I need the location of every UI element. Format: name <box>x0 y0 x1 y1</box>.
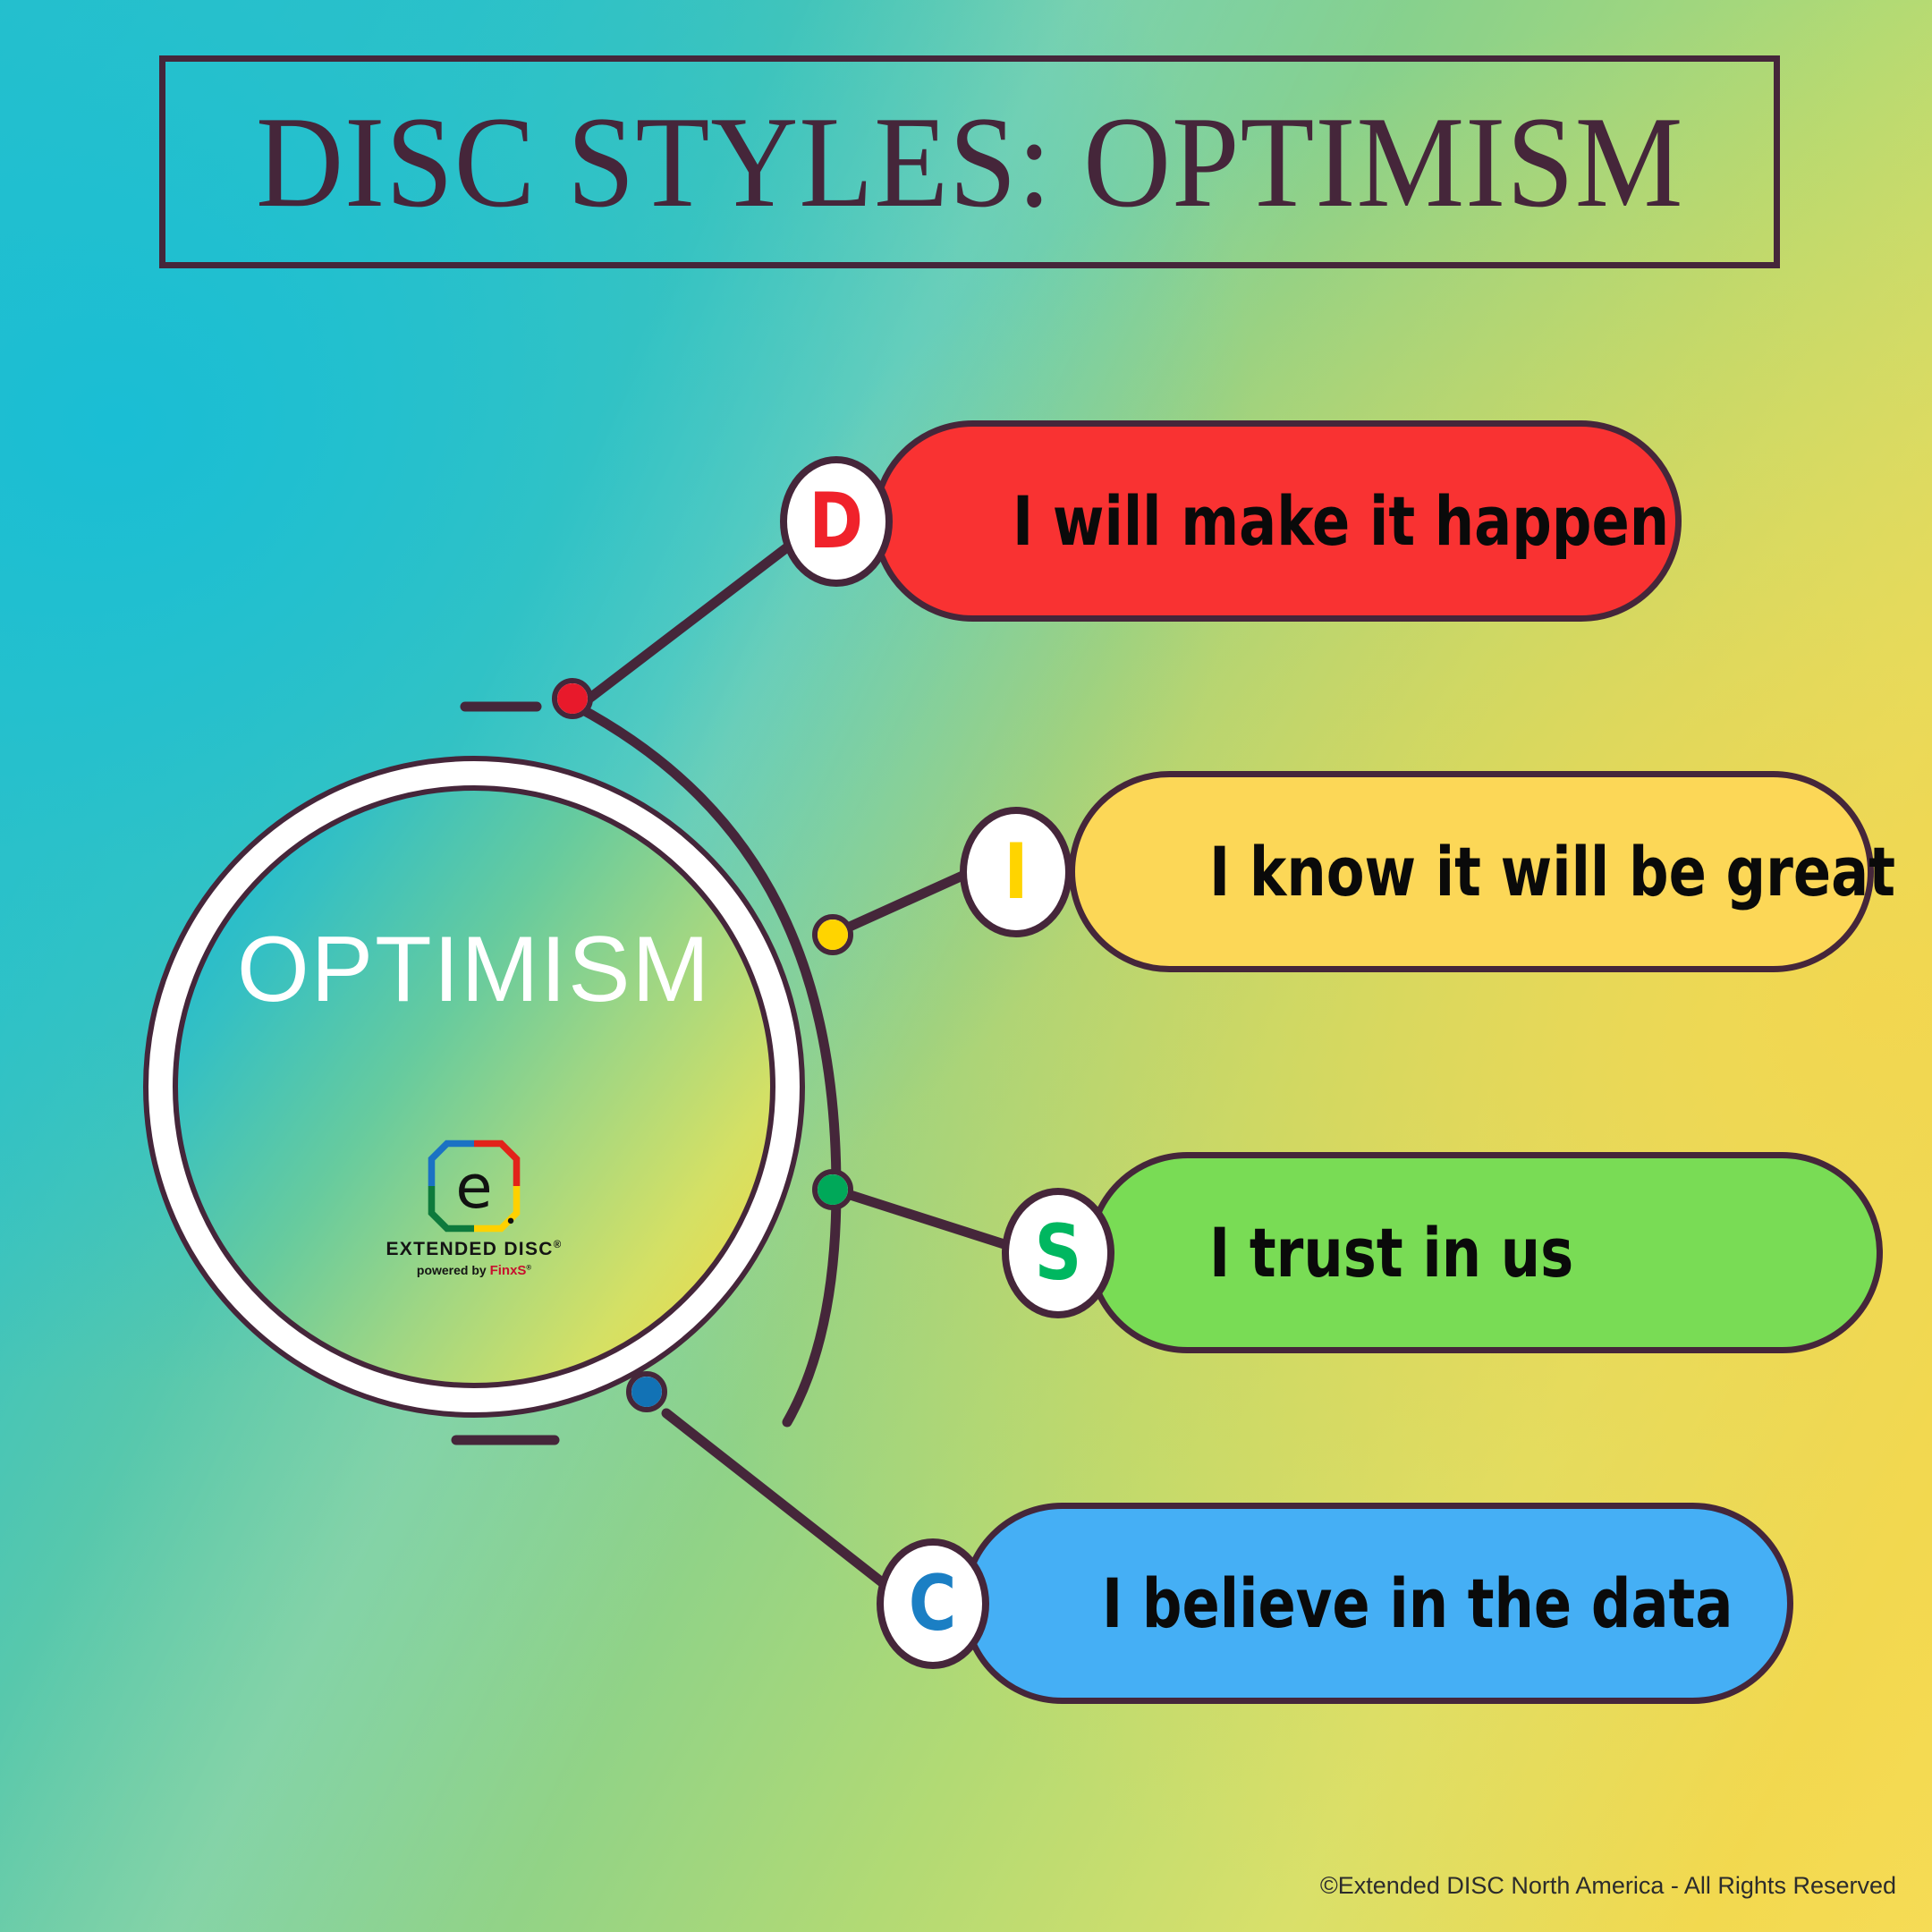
brand-name: EXTENDED DISC® <box>386 1239 562 1260</box>
svg-text:e: e <box>455 1152 492 1222</box>
statement-text-s: I trust in us <box>1209 1219 1573 1287</box>
statement-pill-c[interactable]: I believe in the data <box>962 1503 1793 1704</box>
finxs-wordmark: FinxS <box>490 1263 527 1278</box>
disc-letter-s: S <box>1035 1215 1082 1292</box>
brand-lockup: e EXTENDED DISC® powered by FinxS® <box>178 1138 770 1278</box>
statement-text-c: I believe in the data <box>1102 1570 1733 1638</box>
statement-pill-s[interactable]: I trust in us <box>1087 1152 1883 1353</box>
disc-letter-d: D <box>809 483 864 560</box>
disc-badge-i[interactable]: I <box>960 807 1072 937</box>
copyright-footer: ©Extended DISC North America - All Right… <box>1320 1872 1896 1900</box>
junction-dot-d <box>552 678 593 719</box>
disc-badge-s[interactable]: S <box>1002 1188 1114 1318</box>
disc-badge-d[interactable]: D <box>780 456 893 587</box>
statement-text-i: I know it will be great <box>1209 838 1895 906</box>
statement-pill-d[interactable]: I will make it happen <box>872 420 1682 622</box>
brand-registered-mark: ® <box>554 1240 563 1250</box>
statement-text-d: I will make it happen <box>1013 487 1669 555</box>
infographic-stage: DISC STYLES: OPTIMISM OPTIMISM <box>0 0 1932 1932</box>
junction-dot-s <box>812 1169 853 1210</box>
brand-tagline: powered by FinxS® <box>417 1263 531 1278</box>
hub-circle: OPTIMISM e EXTENDED DISC® powered by Fin… <box>143 756 805 1418</box>
disc-badge-c[interactable]: C <box>877 1538 989 1669</box>
junction-dot-i <box>812 914 853 955</box>
extended-disc-octagon-e-logo-icon: e <box>426 1138 522 1234</box>
disc-letter-c: C <box>909 1565 957 1642</box>
hub-inner-disc: OPTIMISM e EXTENDED DISC® powered by Fin… <box>173 785 775 1388</box>
hub-label: OPTIMISM <box>237 923 711 1016</box>
junction-dot-c <box>626 1371 667 1412</box>
disc-letter-i: I <box>1004 834 1028 911</box>
statement-pill-i[interactable]: I know it will be great <box>1069 771 1874 972</box>
